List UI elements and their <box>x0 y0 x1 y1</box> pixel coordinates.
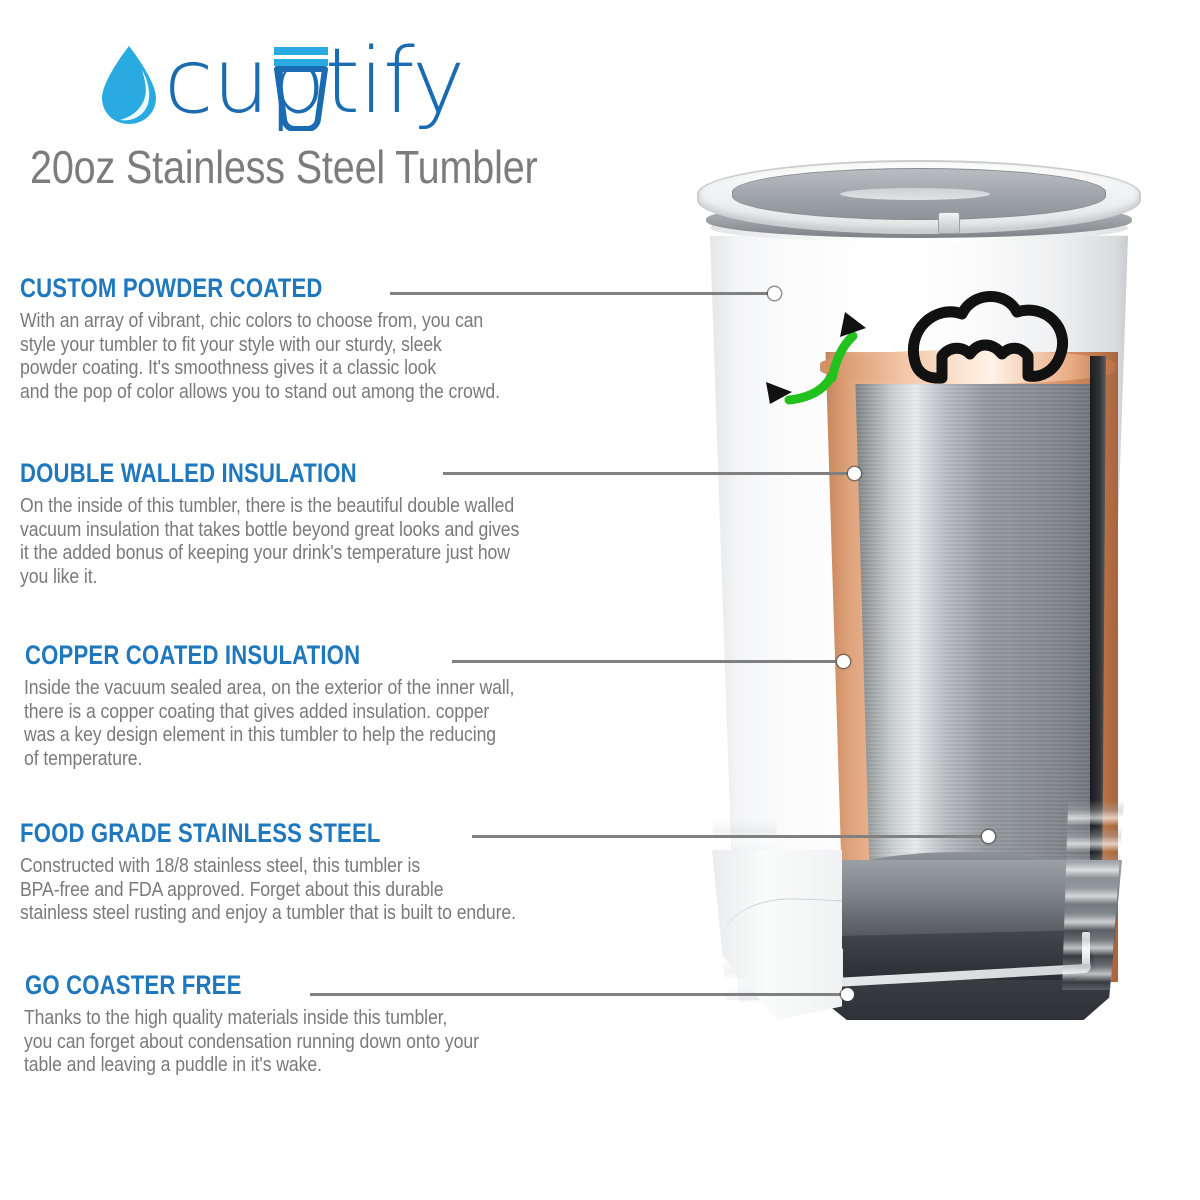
page-title: 20oz Stainless Steel Tumbler <box>30 140 538 194</box>
feature-heading: CUSTOM POWDER COATED <box>20 273 478 303</box>
copper-layer-top-edge <box>820 350 1116 384</box>
feature-body: Inside the vacuum sealed area, on the ex… <box>24 676 514 770</box>
leader-endpoint-dot <box>768 287 781 300</box>
leader-endpoint-dot <box>837 655 850 668</box>
brand-logo: cuptify <box>92 28 612 128</box>
feature-body: Thanks to the high quality materials ins… <box>24 1006 479 1077</box>
lid-highlight <box>840 188 990 200</box>
feature-heading: FOOD GRADE STAINLESS STEEL <box>20 818 493 848</box>
lid-slider-tab[interactable] <box>938 212 960 234</box>
leader-line-double-walled-insulation <box>443 472 855 475</box>
feature-body: With an array of vibrant, chic colors to… <box>20 309 500 403</box>
leader-line-go-coaster-free <box>310 993 848 996</box>
leader-endpoint-dot <box>982 830 995 843</box>
feature-go-coaster-free: GO COASTER FREE Thanks to the high quali… <box>20 970 553 1077</box>
leader-endpoint-dot <box>848 467 861 480</box>
leader-line-copper-coated-insulation <box>452 660 844 663</box>
leader-line-custom-powder-coated <box>390 292 775 295</box>
leader-line-food-grade-stainless-steel <box>472 835 989 838</box>
leader-endpoint-dot <box>841 988 854 1001</box>
feature-double-walled-insulation: DOUBLE WALLED INSULATION On the inside o… <box>20 458 601 588</box>
water-drop-icon <box>98 44 160 126</box>
feature-body: Constructed with 18/8 stainless steel, t… <box>20 854 516 925</box>
feature-heading: DOUBLE WALLED INSULATION <box>20 458 496 488</box>
feature-body: On the inside of this tumbler, there is … <box>20 494 519 588</box>
cup-icon <box>270 45 332 131</box>
infographic-page: cuptify 20oz Stainless Steel Tumbler CUS… <box>0 0 1200 1200</box>
feature-food-grade-stainless-steel: FOOD GRADE STAINLESS STEEL Constructed w… <box>20 818 597 925</box>
feature-heading: COPPER COATED INSULATION <box>25 640 492 670</box>
